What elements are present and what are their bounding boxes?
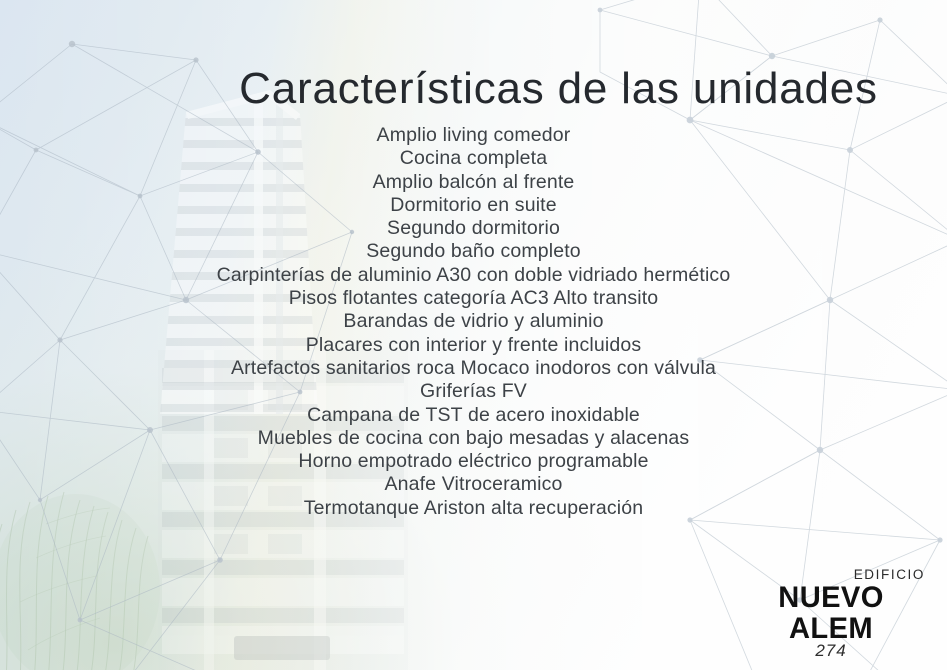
list-item: Amplio living comedor [0, 124, 947, 147]
slide-content: Características de las unidades Amplio l… [0, 0, 947, 670]
list-item: Campana de TST de acero inoxidable [0, 404, 947, 427]
features-list: Amplio living comedor Cocina completa Am… [0, 124, 947, 520]
page-title: Características de las unidades [0, 65, 947, 113]
list-item: Dormitorio en suite [0, 194, 947, 217]
slide-canvas: Características de las unidades Amplio l… [0, 0, 947, 670]
logo-eyebrow: EDIFICIO [731, 567, 931, 582]
list-item: Segundo dormitorio [0, 217, 947, 240]
list-item: Griferías FV [0, 380, 947, 403]
list-item: Amplio balcón al frente [0, 171, 947, 194]
logo-name: NUEVO ALEM [734, 582, 928, 644]
list-item: Artefactos sanitarios roca Mocaco inodor… [0, 357, 947, 380]
list-item: Placares con interior y frente incluidos [0, 334, 947, 357]
list-item: Horno empotrado eléctrico programable [0, 450, 947, 473]
list-item: Muebles de cocina con bajo mesadas y ala… [0, 427, 947, 450]
list-item: Cocina completa [0, 147, 947, 170]
list-item: Segundo baño completo [0, 240, 947, 263]
list-item: Termotanque Ariston alta recuperación [0, 497, 947, 520]
list-item: Barandas de vidrio y aluminio [0, 310, 947, 333]
list-item: Carpinterías de aluminio A30 con doble v… [0, 264, 947, 287]
brand-logo: EDIFICIO NUEVO ALEM 274 [731, 567, 931, 660]
list-item: Anafe Vitroceramico [0, 473, 947, 496]
list-item: Pisos flotantes categoría AC3 Alto trans… [0, 287, 947, 310]
